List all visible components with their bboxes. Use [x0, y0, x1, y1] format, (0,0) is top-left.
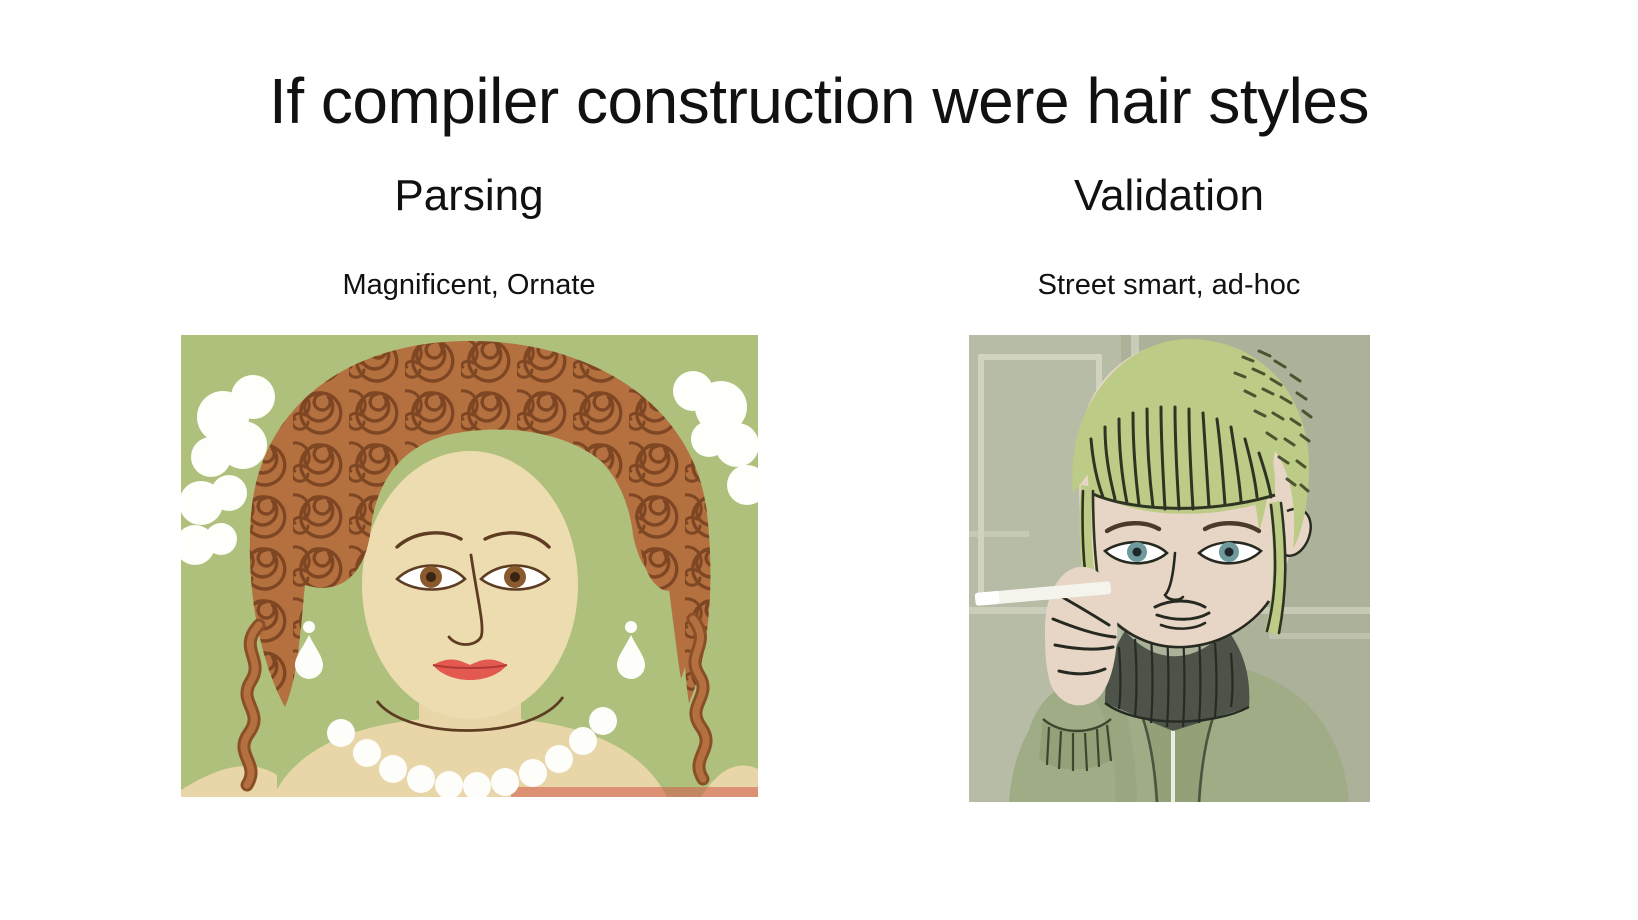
figure-parsing	[181, 335, 758, 797]
page-title: If compiler construction were hair style…	[0, 65, 1638, 139]
column-validation: Validation Street smart, ad-hoc	[819, 170, 1519, 802]
column-subtitle-parsing: Magnificent, Ornate	[342, 269, 595, 302]
figure-validation	[969, 335, 1370, 802]
column-heading-parsing: Parsing	[394, 170, 543, 223]
comparison-columns: Parsing Magnificent, Ornate	[0, 170, 1638, 802]
column-subtitle-validation: Street smart, ad-hoc	[1038, 269, 1301, 302]
undercut-bangs-smoker-illustration	[969, 335, 1370, 802]
ornate-curly-hair-illustration	[181, 335, 758, 797]
column-parsing: Parsing Magnificent, Ornate	[119, 170, 819, 802]
slide-root: If compiler construction were hair style…	[0, 0, 1638, 920]
column-heading-validation: Validation	[1074, 170, 1264, 223]
